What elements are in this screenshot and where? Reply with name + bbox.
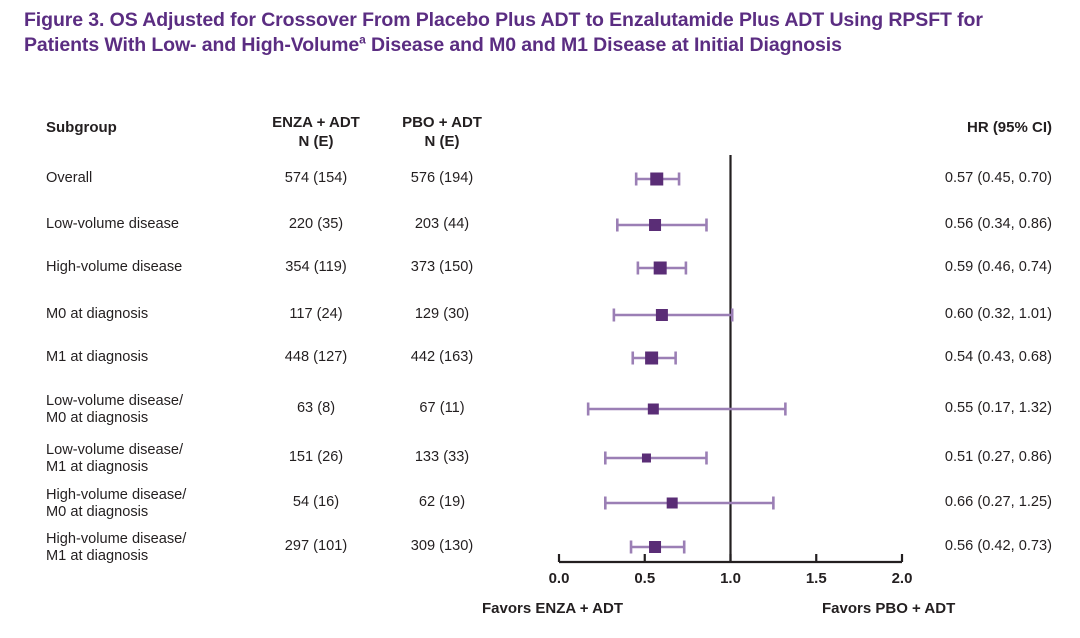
header-subgroup: Subgroup bbox=[46, 118, 117, 137]
forest-plot-figure: Figure 3. OS Adjusted for Crossover From… bbox=[0, 0, 1080, 638]
favors-enza-label: Favors ENZA + ADT bbox=[482, 600, 623, 617]
row-hr-value: 0.59 (0.46, 0.74) bbox=[812, 259, 1052, 276]
header-hr: HR (95% CI) bbox=[812, 118, 1052, 137]
row-subgroup-line1: High-volume disease/ bbox=[46, 531, 186, 548]
row-pbo-value: 442 (163) bbox=[362, 349, 522, 366]
x-axis-tick-label: 1.5 bbox=[786, 570, 846, 587]
row-pbo-value: 62 (19) bbox=[362, 494, 522, 511]
row-subgroup-line1: Low-volume disease bbox=[46, 216, 179, 233]
figure-title: Figure 3. OS Adjusted for Crossover From… bbox=[24, 8, 1054, 58]
row-hr-value: 0.56 (0.34, 0.86) bbox=[812, 216, 1052, 233]
hazard-ratio-marker bbox=[656, 309, 668, 321]
row-subgroup-label: M0 at diagnosis bbox=[46, 306, 148, 323]
row-subgroup-line1: High-volume disease/ bbox=[46, 487, 186, 504]
row-subgroup-label: Low-volume disease bbox=[46, 216, 179, 233]
row-pbo-value: 129 (30) bbox=[362, 306, 522, 323]
row-hr-value: 0.51 (0.27, 0.86) bbox=[812, 449, 1052, 466]
header-pbo-line2: N (E) bbox=[362, 132, 522, 151]
title-line-1: Figure 3. OS Adjusted for Crossover From… bbox=[24, 9, 824, 31]
row-subgroup-label: High-volume disease/M1 at diagnosis bbox=[46, 531, 186, 564]
hazard-ratio-marker bbox=[642, 454, 651, 463]
title-line-3: at Initial Diagnosis bbox=[672, 34, 842, 56]
row-subgroup-line1: Low-volume disease/ bbox=[46, 393, 183, 410]
row-subgroup-label: High-volume disease bbox=[46, 259, 182, 276]
hazard-ratio-marker bbox=[649, 219, 661, 231]
row-pbo-value: 133 (33) bbox=[362, 449, 522, 466]
title-footnote-marker: a bbox=[359, 33, 366, 47]
row-subgroup-line2: M0 at diagnosis bbox=[46, 410, 183, 427]
hazard-ratio-marker bbox=[650, 173, 663, 186]
row-pbo-value: 373 (150) bbox=[362, 259, 522, 276]
row-subgroup-line1: Overall bbox=[46, 170, 92, 187]
row-hr-value: 0.55 (0.17, 1.32) bbox=[812, 400, 1052, 417]
row-subgroup-line1: M1 at diagnosis bbox=[46, 349, 148, 366]
x-axis-tick-label: 1.0 bbox=[701, 570, 761, 587]
row-subgroup-label: Low-volume disease/M1 at diagnosis bbox=[46, 442, 183, 475]
x-axis-tick-label: 0.5 bbox=[615, 570, 675, 587]
row-pbo-value: 309 (130) bbox=[362, 538, 522, 555]
row-subgroup-line1: Low-volume disease/ bbox=[46, 442, 183, 459]
row-hr-value: 0.66 (0.27, 1.25) bbox=[812, 494, 1052, 511]
row-hr-value: 0.54 (0.43, 0.68) bbox=[812, 349, 1052, 366]
hazard-ratio-marker bbox=[648, 404, 659, 415]
row-pbo-value: 576 (194) bbox=[362, 170, 522, 187]
hazard-ratio-marker bbox=[654, 262, 667, 275]
row-subgroup-line2: M1 at diagnosis bbox=[46, 459, 183, 476]
hazard-ratio-marker bbox=[645, 352, 658, 365]
hazard-ratio-marker bbox=[667, 498, 678, 509]
row-hr-value: 0.60 (0.32, 1.01) bbox=[812, 306, 1052, 323]
row-subgroup-label: High-volume disease/M0 at diagnosis bbox=[46, 487, 186, 520]
row-subgroup-line2: M0 at diagnosis bbox=[46, 504, 186, 521]
row-pbo-value: 203 (44) bbox=[362, 216, 522, 233]
row-subgroup-line1: M0 at diagnosis bbox=[46, 306, 148, 323]
row-subgroup-label: Overall bbox=[46, 170, 92, 187]
row-subgroup-label: M1 at diagnosis bbox=[46, 349, 148, 366]
hazard-ratio-marker bbox=[649, 541, 661, 553]
header-pbo: PBO + ADT N (E) bbox=[362, 113, 522, 151]
row-subgroup-line1: High-volume disease bbox=[46, 259, 182, 276]
favors-pbo-label: Favors PBO + ADT bbox=[822, 600, 955, 617]
x-axis-tick-label: 0.0 bbox=[529, 570, 589, 587]
row-hr-value: 0.57 (0.45, 0.70) bbox=[812, 170, 1052, 187]
row-hr-value: 0.56 (0.42, 0.73) bbox=[812, 538, 1052, 555]
x-axis-tick-label: 2.0 bbox=[872, 570, 932, 587]
row-pbo-value: 67 (11) bbox=[362, 400, 522, 417]
row-subgroup-label: Low-volume disease/M0 at diagnosis bbox=[46, 393, 183, 426]
row-subgroup-line2: M1 at diagnosis bbox=[46, 548, 186, 565]
header-pbo-line1: PBO + ADT bbox=[362, 113, 522, 132]
title-line-2b: Disease and M0 and M1 Disease bbox=[366, 34, 666, 56]
